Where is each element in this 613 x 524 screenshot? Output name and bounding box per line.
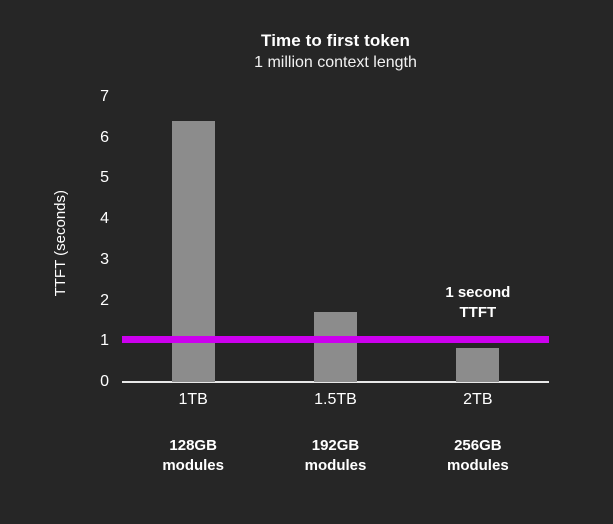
threshold-label-line2: TTFT (418, 303, 538, 323)
x-sub-label-2TB: 256GBmodules (447, 436, 509, 476)
y-tick-label: 7 (100, 88, 122, 106)
y-tick-label: 2 (100, 292, 122, 310)
x-sub-label-line1: 128GB (162, 436, 224, 456)
chart-title-block: Time to first token 1 million context le… (122, 30, 549, 74)
x-sub-label-line1: 192GB (305, 436, 367, 456)
plot-area: 01234567 1 secondTTFT (122, 97, 549, 382)
threshold-label: 1 secondTTFT (418, 283, 538, 323)
x-sub-label-1.5TB: 192GBmodules (305, 436, 367, 476)
x-sub-label-line2: modules (447, 456, 509, 476)
threshold-line (122, 336, 549, 343)
x-sub-label-line2: modules (162, 456, 224, 476)
y-tick-label: 0 (100, 373, 122, 391)
y-tick-label: 1 (100, 332, 122, 350)
x-tick-label-1TB: 1TB (178, 391, 207, 409)
page-title: Time to first token (122, 30, 549, 52)
y-tick-label: 6 (100, 129, 122, 147)
y-tick-label: 4 (100, 210, 122, 228)
bar-2TB (456, 348, 499, 382)
x-sub-label-line1: 256GB (447, 436, 509, 456)
x-tick-label-1.5TB: 1.5TB (314, 391, 357, 409)
x-sub-label-1TB: 128GBmodules (162, 436, 224, 476)
chart-subtitle: 1 million context length (122, 52, 549, 74)
bar-1.5TB (314, 312, 357, 382)
y-axis-title: TTFT (seconds) (52, 190, 69, 296)
y-tick-label: 3 (100, 251, 122, 269)
y-tick-label: 5 (100, 169, 122, 187)
threshold-label-line1: 1 second (418, 283, 538, 303)
x-sub-label-line2: modules (305, 456, 367, 476)
chart-container: Time to first token 1 million context le… (0, 0, 613, 524)
x-tick-label-2TB: 2TB (463, 391, 492, 409)
